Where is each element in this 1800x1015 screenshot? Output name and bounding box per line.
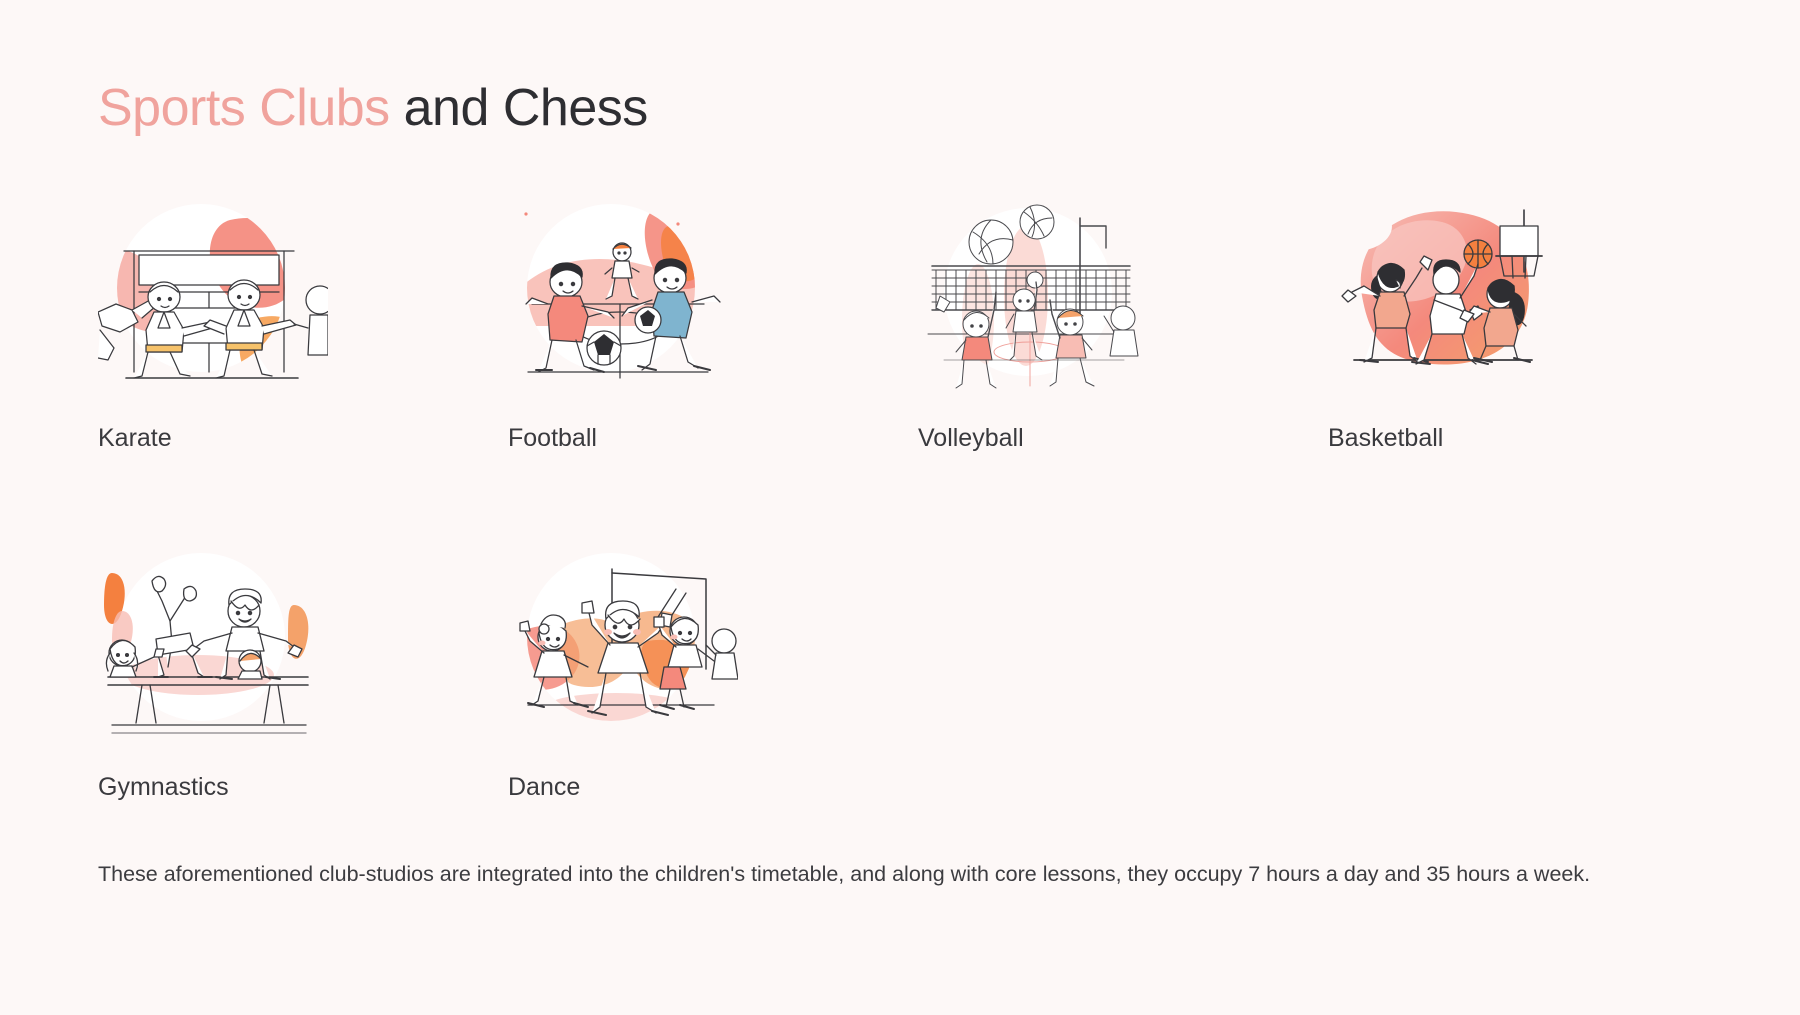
club-label: Football [508, 426, 918, 451]
club-card-basketball[interactable]: Basketball [1328, 200, 1738, 451]
sports-clubs-page: Sports Clubs and Chess [0, 0, 1800, 1015]
page-title-plain: and Chess [390, 79, 648, 137]
club-card-volleyball[interactable]: Volleyball [918, 200, 1328, 451]
club-card-karate[interactable]: Karate [98, 200, 508, 451]
club-label: Basketball [1328, 426, 1738, 451]
page-title: Sports Clubs and Chess [98, 78, 648, 138]
football-illustration [508, 200, 738, 390]
club-label: Dance [508, 775, 918, 800]
dance-illustration [508, 549, 738, 739]
club-card-empty-1 [918, 549, 1328, 800]
footnote-text: These aforementioned club-studios are in… [98, 855, 1658, 893]
gymnastics-illustration [98, 549, 328, 739]
page-title-accent: Sports Clubs [98, 79, 390, 137]
volleyball-illustration [918, 200, 1148, 390]
clubs-row-2: Gymnastics [98, 549, 1518, 800]
club-label: Gymnastics [98, 775, 508, 800]
club-label: Volleyball [918, 426, 1328, 451]
club-card-empty-2 [1328, 549, 1738, 800]
basketball-illustration [1328, 200, 1558, 390]
club-card-dance[interactable]: Dance [508, 549, 918, 800]
clubs-grid: Karate [98, 200, 1518, 800]
club-card-gymnastics[interactable]: Gymnastics [98, 549, 508, 800]
clubs-row-1: Karate [98, 200, 1518, 451]
club-label: Karate [98, 426, 508, 451]
karate-illustration [98, 200, 328, 390]
club-card-football[interactable]: Football [508, 200, 918, 451]
